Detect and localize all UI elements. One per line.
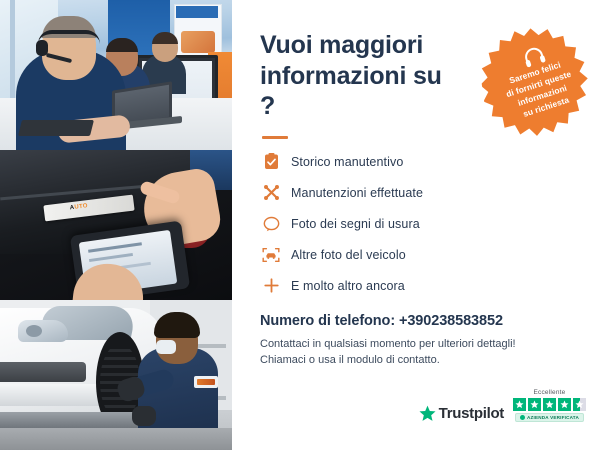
feature-item-altro: E molto altro ancora	[260, 275, 582, 297]
clipboard-check-icon	[260, 151, 282, 173]
rating-label: Eccellente	[534, 389, 566, 396]
star-icon-partial	[573, 398, 586, 411]
page-title: Vuoi maggiori informazioni su ?	[260, 30, 460, 122]
feature-item-altre-foto: Altre foto del veicolo	[260, 244, 582, 266]
callout-badge: Saremo felici di fornirti queste informa…	[475, 19, 600, 145]
feature-item-foto-usura: Foto dei segni di usura	[260, 213, 582, 235]
phone-number[interactable]: Numero di telefono: +390238583852	[260, 313, 582, 329]
promo-banner: AUTO Vuoi maggiori informazioni su ?	[0, 0, 600, 450]
workshop-wheel-photo	[0, 300, 232, 450]
feature-label: Manutenzioni effettuate	[291, 186, 423, 200]
verified-badge: AZIENDA VERIFICATA	[515, 413, 584, 422]
wrench-cross-icon	[260, 182, 282, 204]
contact-line-1: Contattaci in qualsiasi momento per ulte…	[260, 336, 582, 353]
feature-item-manutenzioni: Manutenzioni effettuate	[260, 182, 582, 204]
trustpilot-rating: Eccellente	[513, 389, 586, 422]
vehicle-inspection-photo: AUTO	[0, 150, 232, 300]
star-icon	[543, 398, 556, 411]
call-center-photo	[0, 0, 232, 150]
trustpilot-logo: Trustpilot	[419, 405, 504, 422]
trustpilot-name: Trustpilot	[439, 405, 504, 422]
photo-column: AUTO	[0, 0, 232, 450]
feature-item-storico: Storico manutentivo	[260, 151, 582, 173]
feature-label: E molto altro ancora	[291, 279, 405, 293]
star-icon	[513, 398, 526, 411]
verified-check-icon	[520, 415, 525, 420]
star-icon	[558, 398, 571, 411]
trustpilot-star-icon	[419, 405, 436, 422]
car-frame-icon	[260, 244, 282, 266]
speech-bubble-icon	[260, 213, 282, 235]
feature-label: Altre foto del veicolo	[291, 248, 406, 262]
contact-line-2: Chiamaci o usa il modulo di contatto.	[260, 352, 582, 369]
feature-list: Storico manutentivo Manutenzi	[260, 151, 582, 297]
content-panel: Vuoi maggiori informazioni su ? Storico …	[232, 0, 600, 450]
star-icon	[528, 398, 541, 411]
feature-label: Foto dei segni di usura	[291, 217, 420, 231]
feature-label: Storico manutentivo	[291, 155, 403, 169]
plus-icon	[260, 275, 282, 297]
star-rating	[513, 398, 586, 411]
title-divider	[262, 136, 288, 139]
verified-label: AZIENDA VERIFICATA	[527, 415, 579, 420]
trustpilot-widget[interactable]: Trustpilot Eccellente	[419, 389, 586, 422]
